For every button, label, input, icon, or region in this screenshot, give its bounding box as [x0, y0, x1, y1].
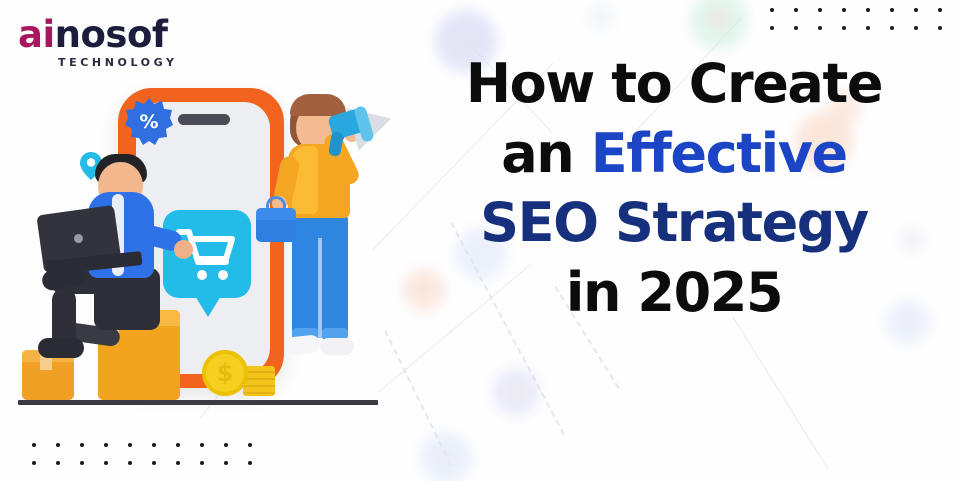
decor-blob-lavender-bottom [492, 368, 540, 416]
brand-logo[interactable]: ainosof TECHNOLOGY [18, 16, 178, 69]
network-line [733, 317, 829, 470]
woman-jeans-seam [318, 238, 322, 338]
smartphone-speaker-notch [178, 114, 230, 125]
dollar-coin-icon: $ [202, 350, 248, 396]
dot-grid-bottom-left [32, 443, 252, 465]
seo-blog-banner: ainosof TECHNOLOGY How to Create an Effe… [0, 0, 962, 481]
woman-hair-front [290, 94, 346, 116]
hero-illustration: 3D illustration of a man sitting on oran… [0, 70, 400, 415]
woman-shoe-right [320, 338, 354, 355]
man-hand [174, 240, 193, 259]
logo-tagline: TECHNOLOGY [58, 56, 178, 69]
decor-blob-core [455, 30, 479, 54]
decor-blob-core [436, 448, 456, 468]
man-shoe-lower [38, 338, 84, 358]
illustration-alt-text: 3D illustration of a man sitting on oran… [0, 70, 1, 71]
headline-line-2-plain: an [501, 122, 590, 185]
dot-grid-top-right [770, 8, 962, 30]
headline-line-4: in 2025 [404, 265, 944, 321]
decor-blob-mint-small [588, 4, 614, 30]
discount-badge-label: % [125, 98, 173, 146]
decor-blob-core [708, 8, 730, 30]
shopping-cart-pin-tail [192, 291, 224, 317]
logo-wordmark: ainosof [18, 16, 178, 53]
decor-blob-mint [690, 0, 748, 50]
ground-line [18, 400, 378, 405]
headline-line-3: SEO Strategy [404, 195, 944, 251]
headline-line-1: How to Create [404, 56, 944, 112]
page-title: How to Create an Effective SEO Strategy … [404, 56, 944, 320]
logo-wordmark-accent: ai [18, 13, 55, 56]
decor-blob-core [506, 382, 525, 401]
headline-line-2-accent: Effective [591, 122, 847, 185]
decor-blob-blue-bottom [420, 432, 472, 481]
headline-line-2: an Effective [404, 126, 944, 182]
logo-wordmark-main: nosof [55, 13, 168, 56]
handbag-flap [256, 208, 296, 220]
woman-shoe-left [285, 334, 321, 355]
